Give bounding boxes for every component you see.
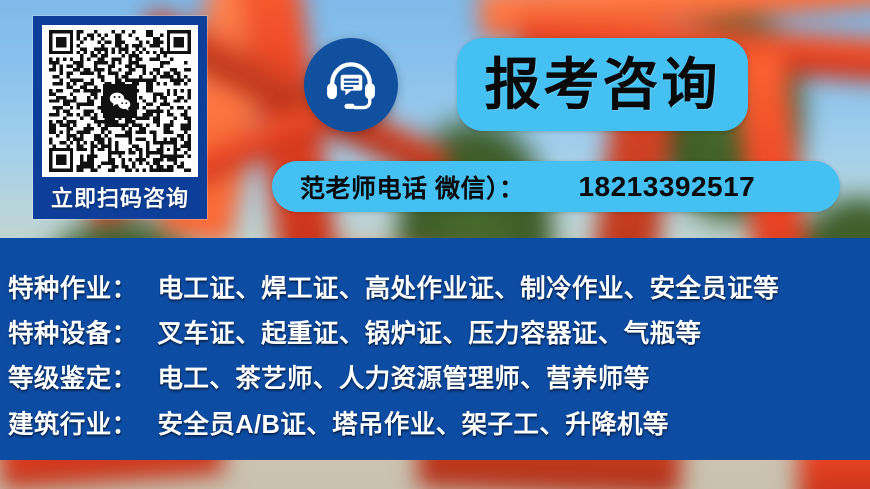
info-line-label: 等级鉴定： <box>8 365 138 393</box>
info-line-special-equipment: 特种设备：叉车证、起重证、锅炉证、压力容器证、气瓶等 <box>8 313 701 350</box>
info-line-value: 叉车证、起重证、锅炉证、压力容器证、气瓶等 <box>158 320 702 348</box>
info-line-grade-appraisal: 等级鉴定：电工、茶艺师、人力资源管理师、营养师等 <box>8 358 650 395</box>
info-line-label: 特种作业： <box>8 275 138 303</box>
info-line-construction-industry: 建筑行业：安全员A/B证、塔吊作业、架子工、升降机等 <box>8 404 669 441</box>
title-pill-text: 报考咨询 <box>485 57 721 113</box>
info-line-value: 安全员A/B证、塔吊作业、架子工、升降机等 <box>158 411 669 439</box>
contact-label: 范老师电话 微信）： <box>300 169 524 205</box>
info-line-label: 建筑行业： <box>8 411 138 439</box>
contact-phone-number[interactable]: 18213392517 <box>578 171 755 203</box>
qr-caption: 立即扫码咨询 <box>36 177 204 216</box>
title-pill: 报考咨询 <box>457 38 748 131</box>
contact-pill[interactable]: 范老师电话 微信）： 18213392517 <box>272 161 840 212</box>
qr-code-area[interactable] <box>42 25 198 177</box>
qr-card[interactable]: 立即扫码咨询 <box>33 16 207 219</box>
headset-chat-icon <box>304 38 398 132</box>
wechat-icon <box>103 84 137 118</box>
info-line-special-operations: 特种作业：电工证、焊工证、高处作业证、制冷作业、安全员证等 <box>8 268 779 305</box>
info-line-value: 电工、茶艺师、人力资源管理师、营养师等 <box>158 365 650 393</box>
info-line-label: 特种设备： <box>8 320 138 348</box>
promo-poster: 特种作业：电工证、焊工证、高处作业证、制冷作业、安全员证等 特种设备：叉车证、起… <box>0 0 870 489</box>
info-line-value: 电工证、焊工证、高处作业证、制冷作业、安全员证等 <box>158 275 780 303</box>
